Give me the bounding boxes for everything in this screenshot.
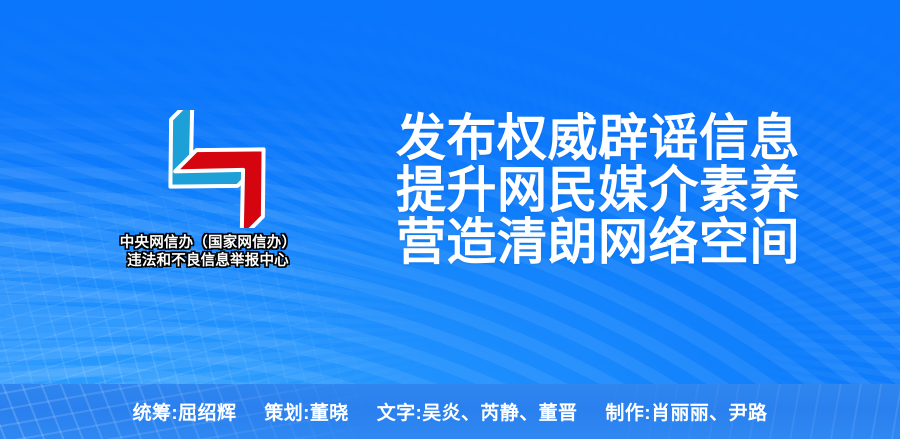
headline-line-2: 提升网民媒介素养 bbox=[396, 164, 816, 216]
credits-list: 统筹:屈绍辉 策划:董晓 文字:吴炎、芮静、董晋 制作:肖丽丽、尹路 bbox=[0, 384, 900, 439]
credit-designers: 制作:肖丽丽、尹路 bbox=[605, 398, 767, 425]
credit-writers: 文字:吴炎、芮静、董晋 bbox=[377, 398, 578, 425]
credit-producer: 统筹:屈绍辉 bbox=[133, 398, 237, 425]
logo-caption-line-2: 违法和不良信息举报中心 bbox=[78, 252, 338, 270]
headline-block: 发布权威辟谣信息 提升网民媒介素养 营造清朗网络空间 bbox=[396, 112, 816, 268]
logo-block: 中央网信办（国家网信办） 违法和不良信息举报中心 bbox=[78, 110, 338, 285]
headline-line-1: 发布权威辟谣信息 bbox=[396, 112, 816, 164]
credits-bar: 统筹:屈绍辉 策划:董晓 文字:吴炎、芮静、董晋 制作:肖丽丽、尹路 bbox=[0, 384, 900, 439]
credit-planner: 策划:董晓 bbox=[264, 398, 348, 425]
report-center-chevron-logo-icon bbox=[133, 110, 283, 228]
logo-caption-line-1: 中央网信办（国家网信办） bbox=[78, 234, 338, 252]
poster-canvas: 中央网信办（国家网信办） 违法和不良信息举报中心 发布权威辟谣信息 提升网民媒介… bbox=[0, 0, 900, 439]
headline-line-3: 营造清朗网络空间 bbox=[396, 216, 816, 268]
